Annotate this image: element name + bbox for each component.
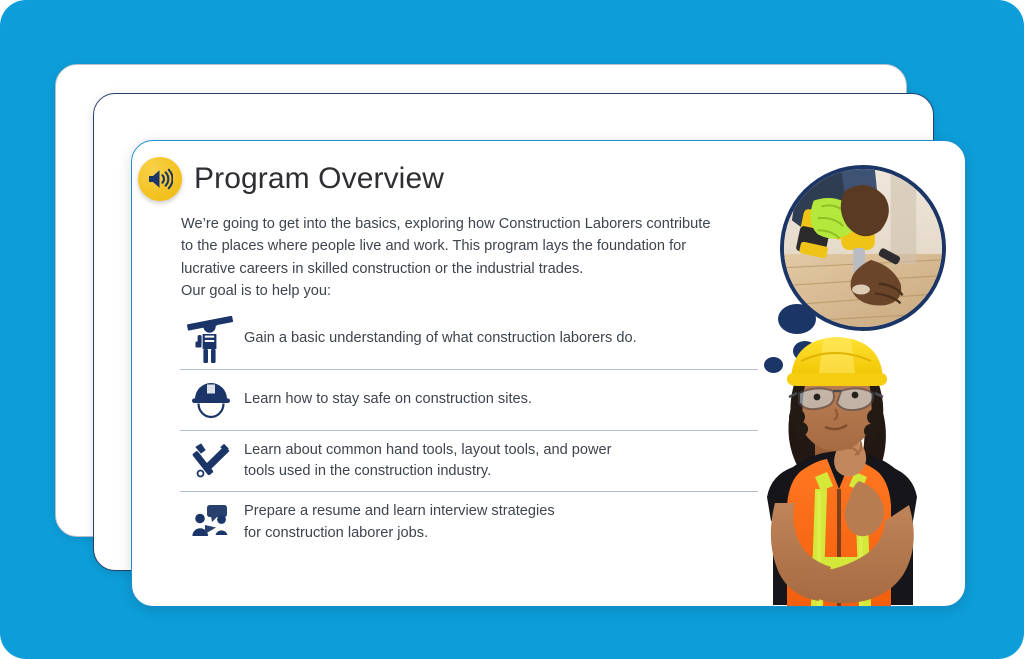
page-title: Program Overview <box>194 162 444 196</box>
slide-stage: Program Overview We’re going to get into… <box>0 0 1024 659</box>
objective-row: Learn about common hand tools, layout to… <box>180 431 758 492</box>
intro-line: lucrative careers in skilled constructio… <box>181 258 781 280</box>
objective-line: Gain a basic understanding of what const… <box>244 328 637 350</box>
slide-header: Program Overview <box>138 157 444 201</box>
objective-line: Learn about common hand tools, layout to… <box>244 440 612 462</box>
objective-text: Learn how to stay safe on construction s… <box>242 389 532 411</box>
objective-row: Learn how to stay safe on construction s… <box>180 370 758 431</box>
objectives-list: Gain a basic understanding of what const… <box>180 309 758 553</box>
objective-line: Learn how to stay safe on construction s… <box>244 389 532 411</box>
intro-line: We’re going to get into the basics, expl… <box>181 213 781 235</box>
objective-line: tools used in the construction industry. <box>244 461 612 483</box>
objective-line: for construction laborer jobs. <box>244 523 555 545</box>
interview-people-icon <box>180 503 242 543</box>
crossed-tools-icon <box>180 438 242 484</box>
intro-line: Our goal is to help you: <box>181 280 781 302</box>
objective-line: Prepare a resume and learn interview str… <box>244 501 555 523</box>
objective-row: Gain a basic understanding of what const… <box>180 309 758 370</box>
hard-hat-icon <box>180 377 242 423</box>
objective-row: Prepare a resume and learn interview str… <box>180 492 758 553</box>
objective-text: Prepare a resume and learn interview str… <box>242 501 555 544</box>
objective-text: Learn about common hand tools, layout to… <box>242 440 612 483</box>
speaker-audio-icon[interactable] <box>138 157 182 201</box>
worker-carrying-beam-icon <box>180 311 242 367</box>
construction-worker-photo <box>731 321 951 607</box>
slide-card-front: Program Overview We’re going to get into… <box>131 140 966 607</box>
intro-paragraph: We’re going to get into the basics, expl… <box>181 213 781 302</box>
intro-line: to the places where people live and work… <box>181 235 781 257</box>
objective-text: Gain a basic understanding of what const… <box>242 328 637 350</box>
